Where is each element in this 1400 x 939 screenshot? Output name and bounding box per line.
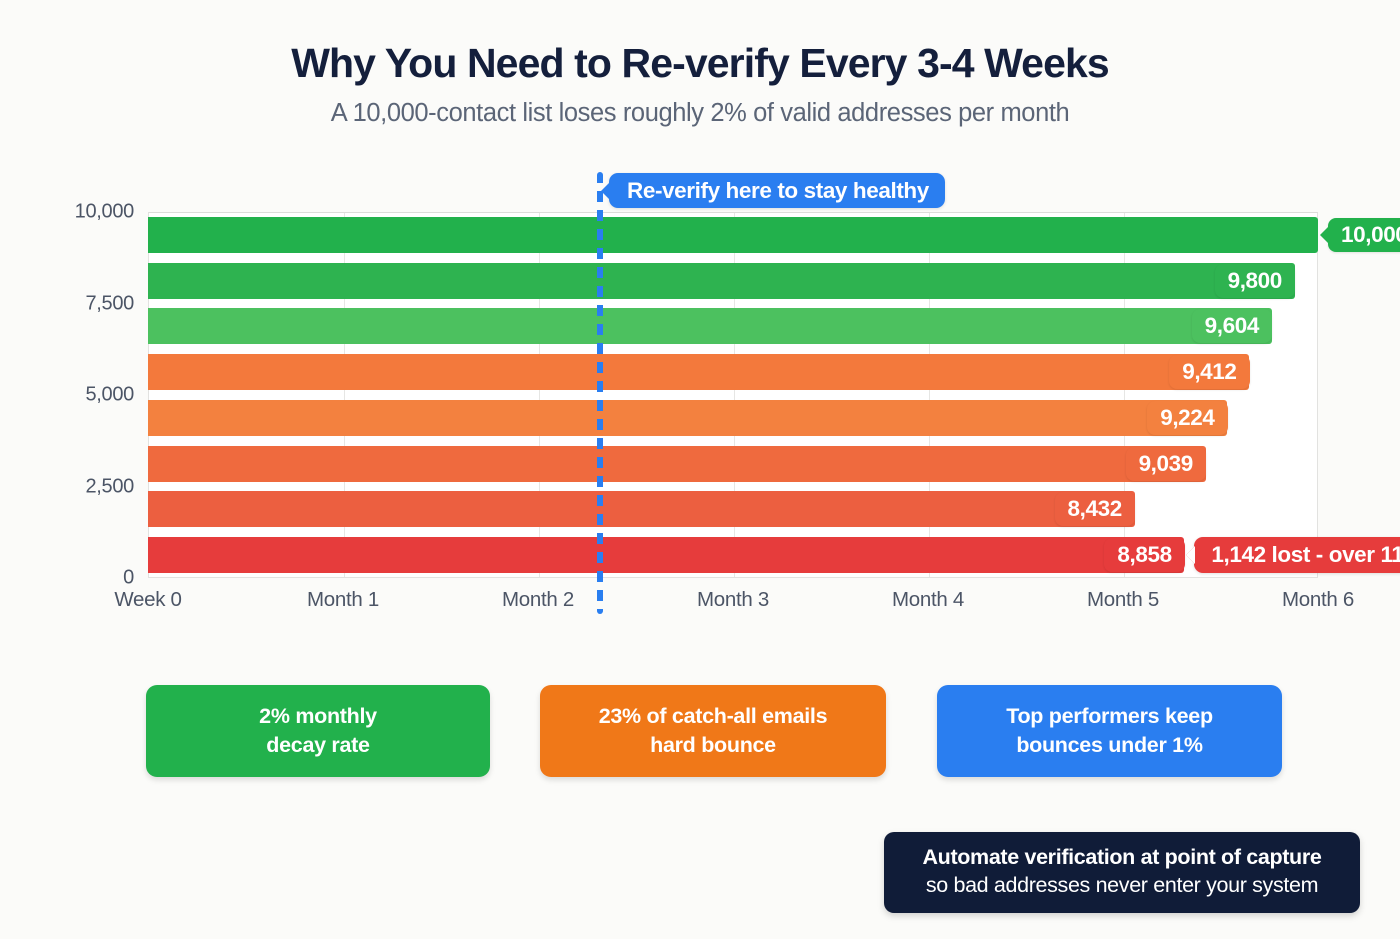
decay-bar-chart: 02,5005,0007,50010,000 Week 0Month 1Mont… [0, 0, 1400, 939]
page-subtitle: A 10,000-contact list loses roughly 2% o… [0, 99, 1400, 128]
x-axis-tick-label: Week 0 [114, 588, 181, 612]
bar-series: 10,000 valid9,8009,6049,4129,2249,0398,4… [148, 212, 1318, 578]
bar-row: 8,432 [148, 491, 1318, 527]
bar-value-label: 9,800 [1215, 264, 1295, 298]
chart-header: Why You Need to Re-verify Every 3-4 Week… [0, 0, 1400, 128]
stat-card-decay-rate: 2% monthly decay rate [146, 685, 490, 777]
x-axis-tick-label: Month 1 [307, 588, 379, 612]
banner-headline: Automate verification at point of captur… [884, 844, 1360, 872]
re-verify-marker-label: Re-verify here to stay healthy [609, 173, 945, 208]
y-axis-tick-label: 0 [123, 567, 134, 590]
x-axis-tick-label: Month 4 [892, 588, 964, 612]
callout-pointer-icon [1320, 226, 1329, 244]
bar [148, 537, 1184, 573]
stat-card-line1: 23% of catch-all emails [599, 702, 828, 731]
x-axis-tick-label: Month 2 [502, 588, 574, 612]
bar [148, 308, 1272, 344]
bar [148, 263, 1295, 299]
bar-row: 9,412 [148, 354, 1318, 390]
takeaway-banner: Automate verification at point of captur… [884, 832, 1360, 913]
bar [148, 446, 1206, 482]
y-axis-tick-label: 5,000 [85, 384, 134, 407]
y-axis-tick-label: 7,500 [85, 292, 134, 315]
re-verify-marker-line [597, 172, 603, 614]
stat-card-line2: bounces under 1% [1006, 731, 1213, 760]
bar-row: 9,800 [148, 263, 1318, 299]
y-axis-tick-label: 10,000 [75, 201, 134, 224]
x-axis-tick-label: Month 6 [1282, 588, 1354, 612]
bar-row: 9,604 [148, 308, 1318, 344]
stat-card-line1: 2% monthly [259, 702, 377, 731]
x-axis: Week 0Month 1Month 2Month 3Month 4Month … [148, 588, 1318, 618]
bar-row: 9,039 [148, 446, 1318, 482]
bar-value-label: 9,412 [1169, 355, 1249, 389]
stat-card-top-performers: Top performers keep bounces under 1% [937, 685, 1282, 777]
bar-value-label: 8,858 [1104, 538, 1184, 572]
y-axis: 02,5005,0007,50010,000 [0, 0, 134, 939]
bar-row: 10,000 valid [148, 217, 1318, 253]
banner-subline: so bad addresses never enter your system [884, 872, 1360, 900]
stat-card-catch-all: 23% of catch-all emails hard bounce [540, 685, 886, 777]
page-title: Why You Need to Re-verify Every 3-4 Week… [0, 42, 1400, 85]
bar-value-label: 8,432 [1055, 492, 1135, 526]
y-axis-tick-label: 2,500 [85, 475, 134, 498]
decay-callout-label: 1,142 lost - over 11% decay [1194, 537, 1400, 573]
stat-card-line2: decay rate [259, 731, 377, 760]
bar-row: 9,224 [148, 400, 1318, 436]
bar-value-label: 10,000 valid [1328, 218, 1400, 252]
bar [148, 217, 1318, 253]
bar-value-label: 9,224 [1147, 401, 1227, 435]
bar [148, 400, 1227, 436]
x-axis-tick-label: Month 3 [697, 588, 769, 612]
stat-card-line1: Top performers keep [1006, 702, 1213, 731]
bar-value-label: 9,604 [1192, 309, 1272, 343]
stat-card-row: 2% monthly decay rate 23% of catch-all e… [0, 685, 1400, 780]
bar [148, 491, 1135, 527]
stat-card-line2: hard bounce [599, 731, 828, 760]
bar-row: 8,8581,142 lost - over 11% decay [148, 537, 1318, 573]
x-axis-tick-label: Month 5 [1087, 588, 1159, 612]
bar-value-label: 9,039 [1126, 447, 1206, 481]
bar [148, 354, 1249, 390]
